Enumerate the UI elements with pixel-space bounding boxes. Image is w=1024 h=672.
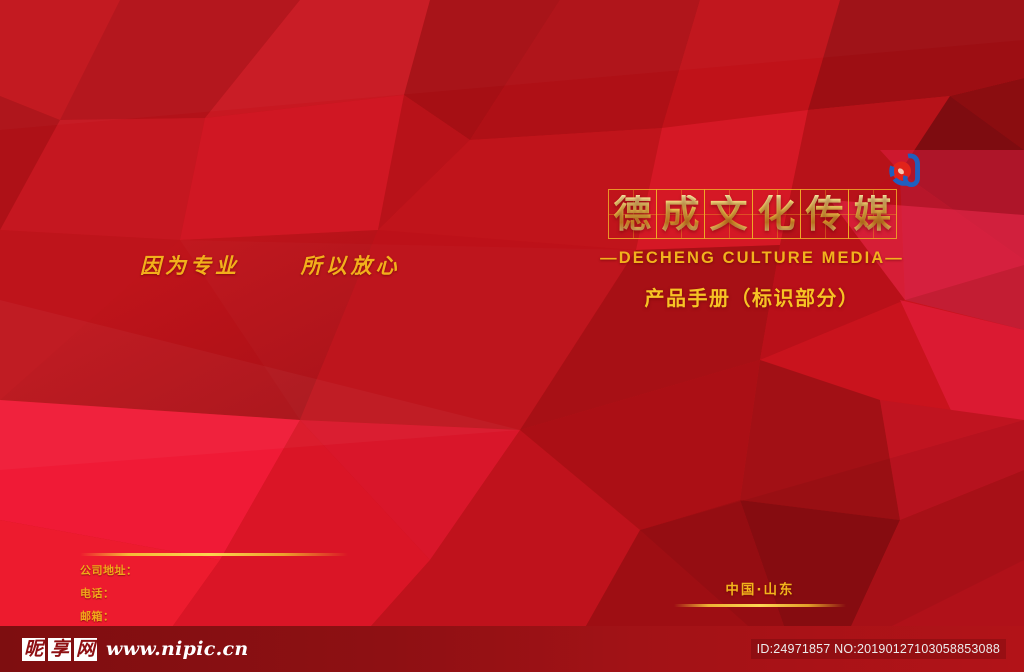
slogan: 因为专业 所以放心 — [140, 250, 401, 280]
location-block: 中国·山东 — [660, 578, 860, 607]
nipic-logo: 昵 享 网 — [22, 638, 97, 661]
brand-char-cell: 传 — [800, 189, 849, 239]
location-divider — [674, 604, 846, 607]
nipic-logo-char: 网 — [74, 638, 97, 661]
watermark-id-text: ID:24971857 NO:20190127103058853088 — [751, 639, 1006, 659]
brand-english-name: —DECHENG CULTURE MEDIA— — [592, 249, 912, 268]
brand-char: 化 — [757, 195, 795, 233]
contact-address-label: 公司地址： — [80, 565, 350, 576]
contact-phone-label: 电话： — [80, 588, 350, 599]
nipic-logo-char: 昵 — [22, 638, 45, 661]
brand-char: 成 — [661, 195, 699, 233]
decheng-logo-icon — [886, 148, 930, 192]
brand-char-cell: 媒 — [848, 189, 897, 239]
brand-title: 德 成 文 化 传 媒 — [592, 188, 912, 240]
brand-char-cell: 成 — [656, 189, 705, 239]
poster-canvas: 因为专业 所以放心 德 成 文 化 传 媒 —DECHENG CU — [0, 0, 1024, 672]
brand-char-cell: 化 — [752, 189, 801, 239]
contact-divider — [80, 553, 348, 556]
watermark-url: www.nipic.cn — [106, 638, 248, 660]
brand-block: 德 成 文 化 传 媒 —DECHENG CULTURE MEDIA— 产品手册… — [592, 188, 912, 311]
brand-char: 传 — [805, 195, 843, 233]
slogan-left: 因为专业 — [140, 253, 240, 278]
brand-char: 媒 — [853, 195, 891, 233]
nipic-logo-char: 享 — [48, 638, 71, 661]
location-label: 中国·山东 — [660, 578, 860, 598]
contact-email-label: 邮箱： — [80, 611, 350, 622]
brand-char: 德 — [613, 195, 651, 233]
watermark-left: 昵 享 网 www.nipic.cn — [22, 638, 249, 661]
watermark-bar: 昵 享 网 www.nipic.cn ID:24971857 NO:201901… — [0, 626, 1024, 672]
brand-char: 文 — [709, 195, 747, 233]
brand-char-cell: 文 — [704, 189, 753, 239]
brand-char-cell: 德 — [608, 189, 657, 239]
brand-subtitle: 产品手册（标识部分） — [592, 282, 912, 311]
slogan-right: 所以放心 — [301, 253, 401, 278]
